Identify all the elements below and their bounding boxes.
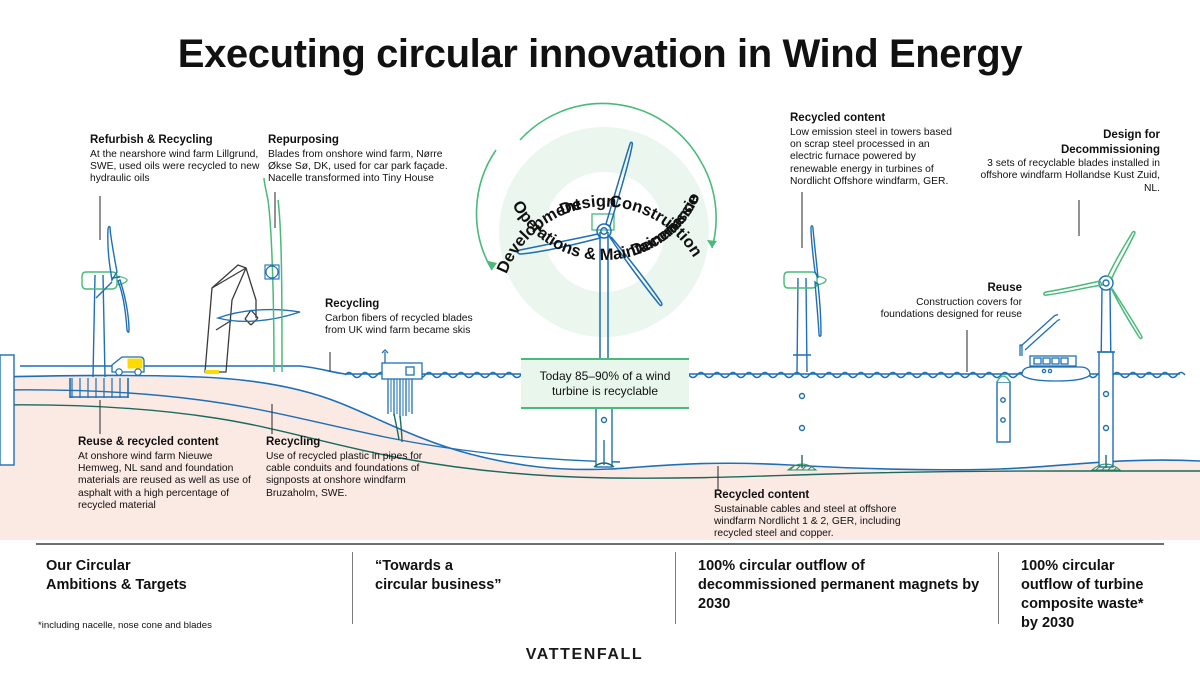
callout-heading: Recycled content [714,489,904,503]
repurposed-green-turbine [264,178,282,372]
recyclable-badge-line1: Today 85–90% of a wind [540,369,671,383]
vattenfall-logo: VATTENFALL [0,644,1200,665]
callout-body: Use of recycled plastic in pipes for cab… [266,451,431,501]
ambitions-column-magnets: 100% circular outflow of decommissioned … [675,552,998,624]
callout-heading: Refurbish & Recycling [90,134,260,148]
callout-recycling-plastic: Recycling Use of recycled plastic in pip… [266,436,431,500]
ambitions-heading: Our Circular Ambitions & Targets [46,557,338,595]
callout-recycled-content-cables: Recycled content Sustainable cables and … [714,489,904,541]
callout-heading: Recycling [325,298,475,312]
callout-body: Low emission steel in towers based on sc… [790,127,965,189]
ambitions-composite: 100% circular outflow of turbine composi… [1021,557,1150,633]
vattenfall-sun-mark-icon [653,644,674,665]
ambitions-quote: “Towards a circular business” [375,557,661,595]
callout-reuse-recycled-content: Reuse & recycled content At onshore wind… [78,436,258,513]
callout-body: 3 sets of recyclable blades installed in… [975,158,1160,195]
foundation-cover-monopile [997,376,1010,442]
callout-body: At onshore wind farm Nieuwe Hemweg, NL s… [78,451,258,513]
vattenfall-wordmark: VATTENFALL [526,646,644,664]
callout-design-for-decommissioning: Design for Decommissioning 3 sets of rec… [975,129,1160,195]
blade-repurposing-structure [205,265,300,374]
recyclable-badge-line2: turbine is recyclable [552,384,658,398]
callout-body: Construction covers for foundations desi… [872,297,1022,322]
callout-heading-line2: Decommissioning [975,144,1160,158]
callout-heading-line1: Design for [975,129,1160,143]
callout-heading: Repurposing [268,134,450,148]
callout-heading: Reuse [872,282,1022,296]
infographic-canvas: Executing circular innovation in Wind En… [0,0,1200,675]
callout-body: Blades from onshore wind farm, Nørre Øks… [268,149,450,186]
ambitions-band: Our Circular Ambitions & Targets “Toward… [36,552,1164,624]
center-monopile [594,405,614,467]
ambitions-column-heading: Our Circular Ambitions & Targets [36,552,352,624]
callout-body: Sustainable cables and steel at offshore… [714,504,904,541]
callout-heading: Recycled content [790,112,965,126]
ambitions-column-quote: “Towards a circular business” [352,552,675,624]
ambitions-footnote: *including nacelle, nose cone and blades [38,620,212,631]
construction-vessel [1020,315,1090,381]
callout-recycled-content-towers: Recycled content Low emission steel in t… [790,112,965,189]
band-divider [36,543,1164,545]
ambitions-magnets: 100% circular outflow of decommissioned … [698,557,984,614]
offshore-turbine-right [1044,232,1142,470]
recyclable-badge: Today 85–90% of a wind turbine is recycl… [521,358,689,409]
ambitions-column-composite: 100% circular outflow of turbine composi… [998,552,1164,624]
callout-heading: Recycling [266,436,431,450]
callout-heading: Reuse & recycled content [78,436,258,450]
callout-repurposing: Repurposing Blades from onshore wind far… [268,134,450,186]
callout-reuse: Reuse Construction covers for foundation… [872,282,1022,321]
callout-recycling-skis: Recycling Carbon fibers of recycled blad… [325,298,475,337]
service-van [112,357,144,375]
callout-body: Carbon fibers of recycled blades from UK… [325,313,475,338]
callout-body: At the nearshore wind farm Lillgrund, SW… [90,149,260,186]
lifecycle-wheel: Development Design Construction Operatio… [0,0,717,420]
callout-refurbish-recycling: Refurbish & Recycling At the nearshore w… [90,134,260,186]
